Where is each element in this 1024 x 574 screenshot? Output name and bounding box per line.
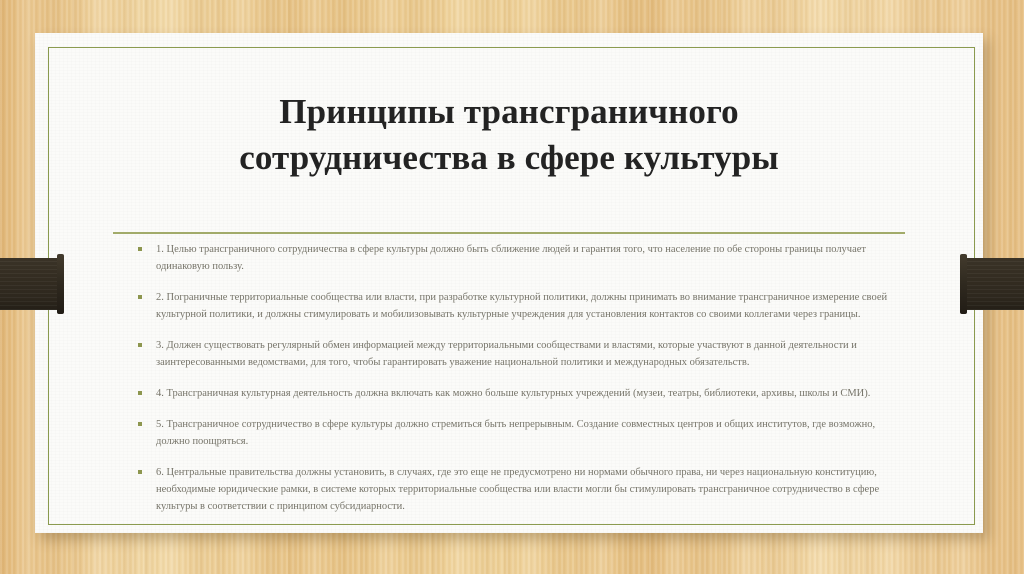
list-item-text: 5. Трансграничное сотрудничество в сфере…	[156, 419, 875, 447]
page-title-line-1: Принципы трансграничного	[279, 92, 738, 131]
square-bullet-icon	[138, 422, 142, 426]
list-item-text: 4. Трансграничная культурная деятельност…	[156, 388, 870, 399]
list-item-text: 6. Центральные правительства должны уста…	[156, 467, 879, 512]
list-item: 5. Трансграничное сотрудничество в сфере…	[112, 416, 910, 450]
list-item: 3. Должен существовать регулярный обмен …	[112, 337, 910, 371]
decorative-band-left	[0, 258, 64, 310]
square-bullet-icon	[138, 247, 142, 251]
list-item: 1. Целью трансграничного сотрудничества …	[112, 241, 910, 275]
band-end-cap-right	[960, 254, 967, 314]
square-bullet-icon	[138, 470, 142, 474]
list-item: 2. Пограничные территориальные сообществ…	[112, 289, 910, 323]
decorative-band-right	[960, 258, 1024, 310]
list-item: 6. Центральные правительства должны уста…	[112, 464, 910, 515]
list-item-text: 1. Целью трансграничного сотрудничества …	[156, 244, 866, 272]
page-title-line-2: сотрудничества в сфере культуры	[239, 138, 779, 177]
list-item: 4. Трансграничная культурная деятельност…	[112, 385, 910, 402]
list-item-text: 2. Пограничные территориальные сообществ…	[156, 292, 887, 320]
list-item-text: 3. Должен существовать регулярный обмен …	[156, 340, 857, 368]
title-divider-rule	[113, 232, 905, 234]
slide-content: Принципы трансграничного сотрудничества …	[35, 33, 983, 533]
square-bullet-icon	[138, 295, 142, 299]
square-bullet-icon	[138, 391, 142, 395]
slide-page: Принципы трансграничного сотрудничества …	[35, 33, 983, 533]
bullet-list: 1. Целью трансграничного сотрудничества …	[112, 241, 910, 515]
square-bullet-icon	[138, 343, 142, 347]
band-end-cap-left	[57, 254, 64, 314]
page-title: Принципы трансграничного сотрудничества …	[105, 89, 913, 181]
